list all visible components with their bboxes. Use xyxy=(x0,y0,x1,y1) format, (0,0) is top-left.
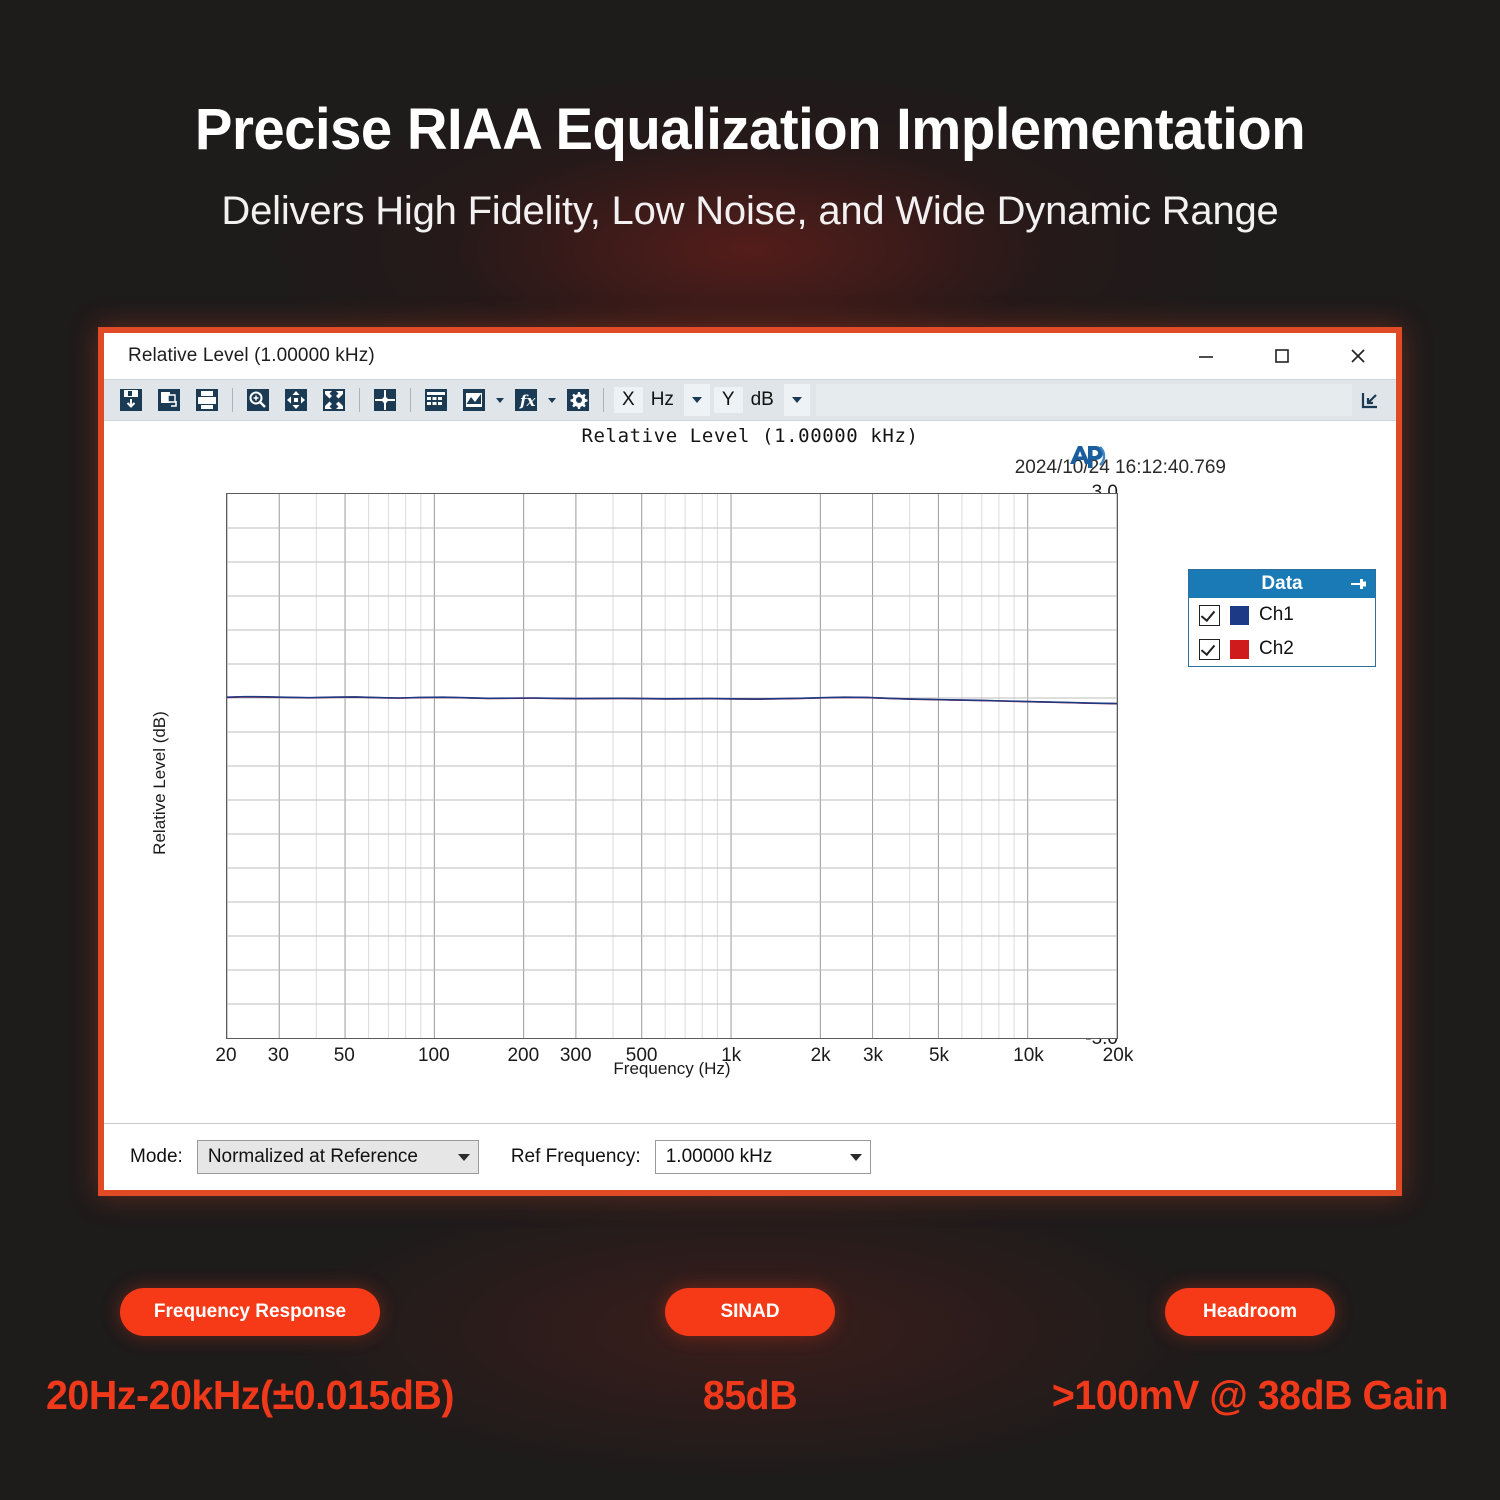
legend-label: Ch2 xyxy=(1259,638,1294,660)
ap-watermark-logo xyxy=(1064,441,1110,476)
chart-timestamp: 2024/10/24 16:12:40.769 xyxy=(1015,457,1226,479)
specs-section: Frequency Response20Hz-20kHz(±0.015dB)SI… xyxy=(0,1288,1500,1419)
x-axis-label: Frequency (Hz) xyxy=(226,1059,1118,1079)
legend-item-ch1[interactable]: Ch1 xyxy=(1189,598,1375,632)
pan-icon[interactable] xyxy=(279,384,313,416)
toolbar-separator xyxy=(410,388,411,412)
minimize-icon[interactable] xyxy=(1168,333,1244,379)
toolbar-filler xyxy=(816,384,1352,416)
spec-column-2: Headroom>100mV @ 38dB Gain xyxy=(1000,1288,1500,1419)
maximize-icon[interactable] xyxy=(1244,333,1320,379)
mode-select-value: Normalized at Reference xyxy=(208,1146,418,1168)
crosshair-icon[interactable] xyxy=(368,384,402,416)
pin-icon[interactable] xyxy=(1349,576,1367,597)
legend-title: Data xyxy=(1261,573,1302,595)
y-axis-tag[interactable]: Y xyxy=(714,387,743,413)
legend-item-ch2[interactable]: Ch2 xyxy=(1189,632,1375,666)
plot-wrapper: Relative Level (dB) 3.02.52.01.51.00.50-… xyxy=(166,483,1118,1083)
legend-label: Ch1 xyxy=(1259,604,1294,626)
spec-pill: SINAD xyxy=(665,1288,835,1336)
toolbar-separator xyxy=(359,388,360,412)
ref-frequency-chevron-down-icon xyxy=(850,1154,862,1161)
x-axis-chevron-down-icon[interactable] xyxy=(684,384,710,416)
save-icon[interactable] xyxy=(114,384,148,416)
mode-chevron-down-icon xyxy=(458,1154,470,1161)
x-axis-tag[interactable]: X xyxy=(614,387,643,413)
toolbar-separator xyxy=(232,388,233,412)
ref-frequency-select[interactable]: 1.00000 kHz xyxy=(655,1140,871,1174)
page-title: Precise RIAA Equalization Implementation xyxy=(23,100,1478,161)
spec-value: >100mV @ 38dB Gain xyxy=(1010,1372,1490,1419)
legend-panel: Data Ch1Ch2 xyxy=(1188,569,1376,667)
graph-footer-controls: Mode: Normalized at Reference Ref Freque… xyxy=(104,1123,1396,1190)
graph-type-chevron-down-icon[interactable] xyxy=(493,384,507,416)
print-icon[interactable] xyxy=(190,384,224,416)
graph-area: Relative Level (1.00000 kHz) 2024/10/24 … xyxy=(104,421,1396,1123)
mode-select[interactable]: Normalized at Reference xyxy=(197,1140,479,1174)
function-icon[interactable]: fx xyxy=(509,384,543,416)
y-axis-unit[interactable]: dB xyxy=(743,389,784,411)
window-title: Relative Level (1.00000 kHz) xyxy=(104,345,375,367)
spec-column-1: SINAD85dB xyxy=(500,1288,1000,1419)
spec-column-0: Frequency Response20Hz-20kHz(±0.015dB) xyxy=(0,1288,500,1419)
legend-checkbox-ch2[interactable] xyxy=(1199,639,1220,660)
table-icon[interactable] xyxy=(419,384,453,416)
legend-checkbox-ch1[interactable] xyxy=(1199,605,1220,626)
export-icon[interactable] xyxy=(152,384,186,416)
settings-gear-icon[interactable] xyxy=(561,384,595,416)
svg-text:fx: fx xyxy=(519,392,536,410)
window-titlebar: Relative Level (1.00000 kHz) xyxy=(104,333,1396,379)
ref-frequency-value: 1.00000 kHz xyxy=(666,1146,773,1168)
ref-frequency-label: Ref Frequency: xyxy=(511,1146,641,1168)
legend-color-swatch xyxy=(1230,640,1249,659)
legend-header: Data xyxy=(1189,570,1375,598)
graph-type-icon[interactable] xyxy=(457,384,491,416)
plot-canvas[interactable] xyxy=(226,493,1118,1039)
zoom-icon[interactable] xyxy=(241,384,275,416)
mode-label: Mode: xyxy=(130,1146,183,1168)
ap-measurement-window: Relative Level (1.00000 kHz) xyxy=(98,327,1402,1196)
function-chevron-down-icon[interactable] xyxy=(545,384,559,416)
spec-pill: Headroom xyxy=(1165,1288,1335,1336)
x-axis-unit[interactable]: Hz xyxy=(643,389,684,411)
window-toolbar: fx X Hz Y dB xyxy=(104,379,1396,421)
restore-down-icon[interactable] xyxy=(1352,384,1388,416)
spec-pill: Frequency Response xyxy=(120,1288,380,1336)
spec-value: 20Hz-20kHz(±0.015dB) xyxy=(10,1372,490,1419)
y-axis-label: Relative Level (dB) xyxy=(150,711,170,855)
page-subtitle: Delivers High Fidelity, Low Noise, and W… xyxy=(0,189,1500,233)
fit-icon[interactable] xyxy=(317,384,351,416)
legend-color-swatch xyxy=(1230,606,1249,625)
hero-section: Precise RIAA Equalization Implementation… xyxy=(0,100,1500,233)
spec-value: 85dB xyxy=(510,1372,990,1419)
toolbar-separator xyxy=(603,388,604,412)
y-axis-chevron-down-icon[interactable] xyxy=(784,384,810,416)
chart-title: Relative Level (1.00000 kHz) xyxy=(104,425,1396,447)
close-icon[interactable] xyxy=(1320,333,1396,379)
